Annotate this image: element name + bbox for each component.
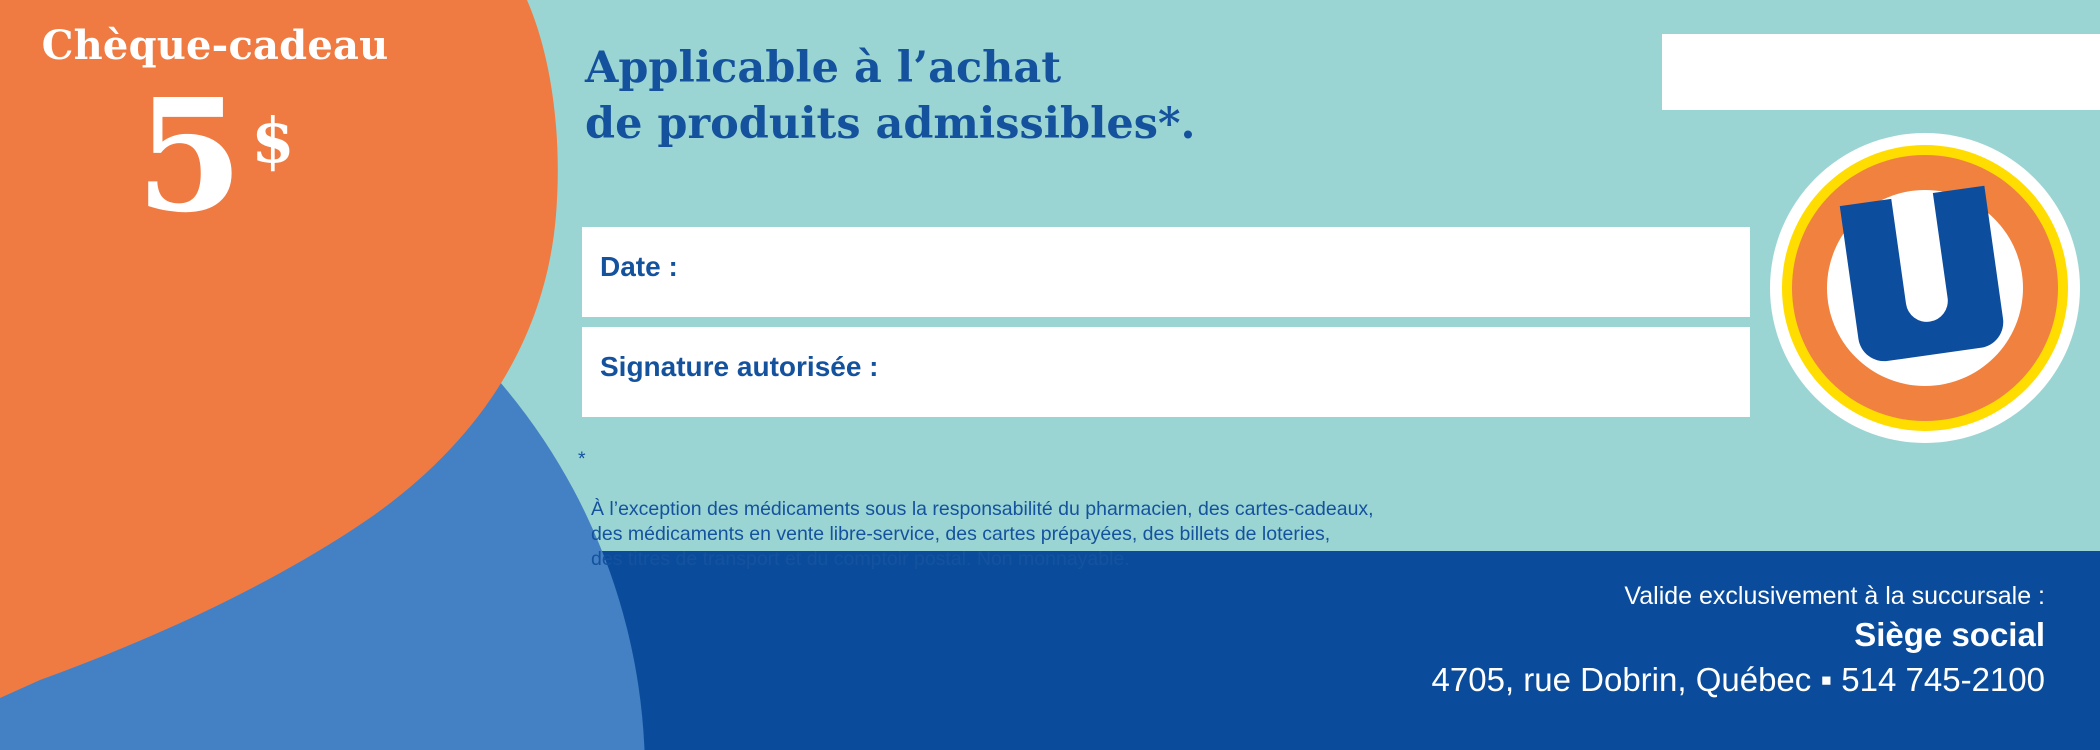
- date-field[interactable]: Date :: [582, 227, 1750, 317]
- branch-info: Valide exclusivement à la succursale : S…: [1432, 580, 2045, 702]
- branch-name: Siège social: [1432, 614, 2045, 656]
- voucher-title: Chèque-cadeau: [0, 22, 430, 69]
- uniprix-logo: [1770, 133, 2080, 443]
- gift-certificate-voucher: Chèque-cadeau 5$ Applicable à l’achat de…: [0, 0, 2100, 750]
- branch-address-phone: 4705, rue Dobrin, Québec ▪ 514 745-2100: [1432, 658, 2045, 702]
- amount-currency-symbol: $: [251, 104, 294, 177]
- signature-field-label: Signature autorisée :: [600, 351, 879, 383]
- footnote-marker: *: [578, 447, 586, 472]
- signature-field[interactable]: Signature autorisée :: [582, 327, 1750, 417]
- amount-value: 5: [136, 64, 244, 247]
- voucher-amount: 5$: [0, 78, 430, 233]
- headline-text: Applicable à l’achat de produits admissi…: [585, 40, 1195, 152]
- branch-validity-label: Valide exclusivement à la succursale :: [1432, 580, 2045, 612]
- footnote: * À l’exception des médicaments sous la …: [578, 447, 1374, 597]
- footnote-text: À l’exception des médicaments sous la re…: [591, 497, 1374, 572]
- date-field-label: Date :: [600, 251, 678, 283]
- blank-write-in-box[interactable]: [1662, 34, 2100, 110]
